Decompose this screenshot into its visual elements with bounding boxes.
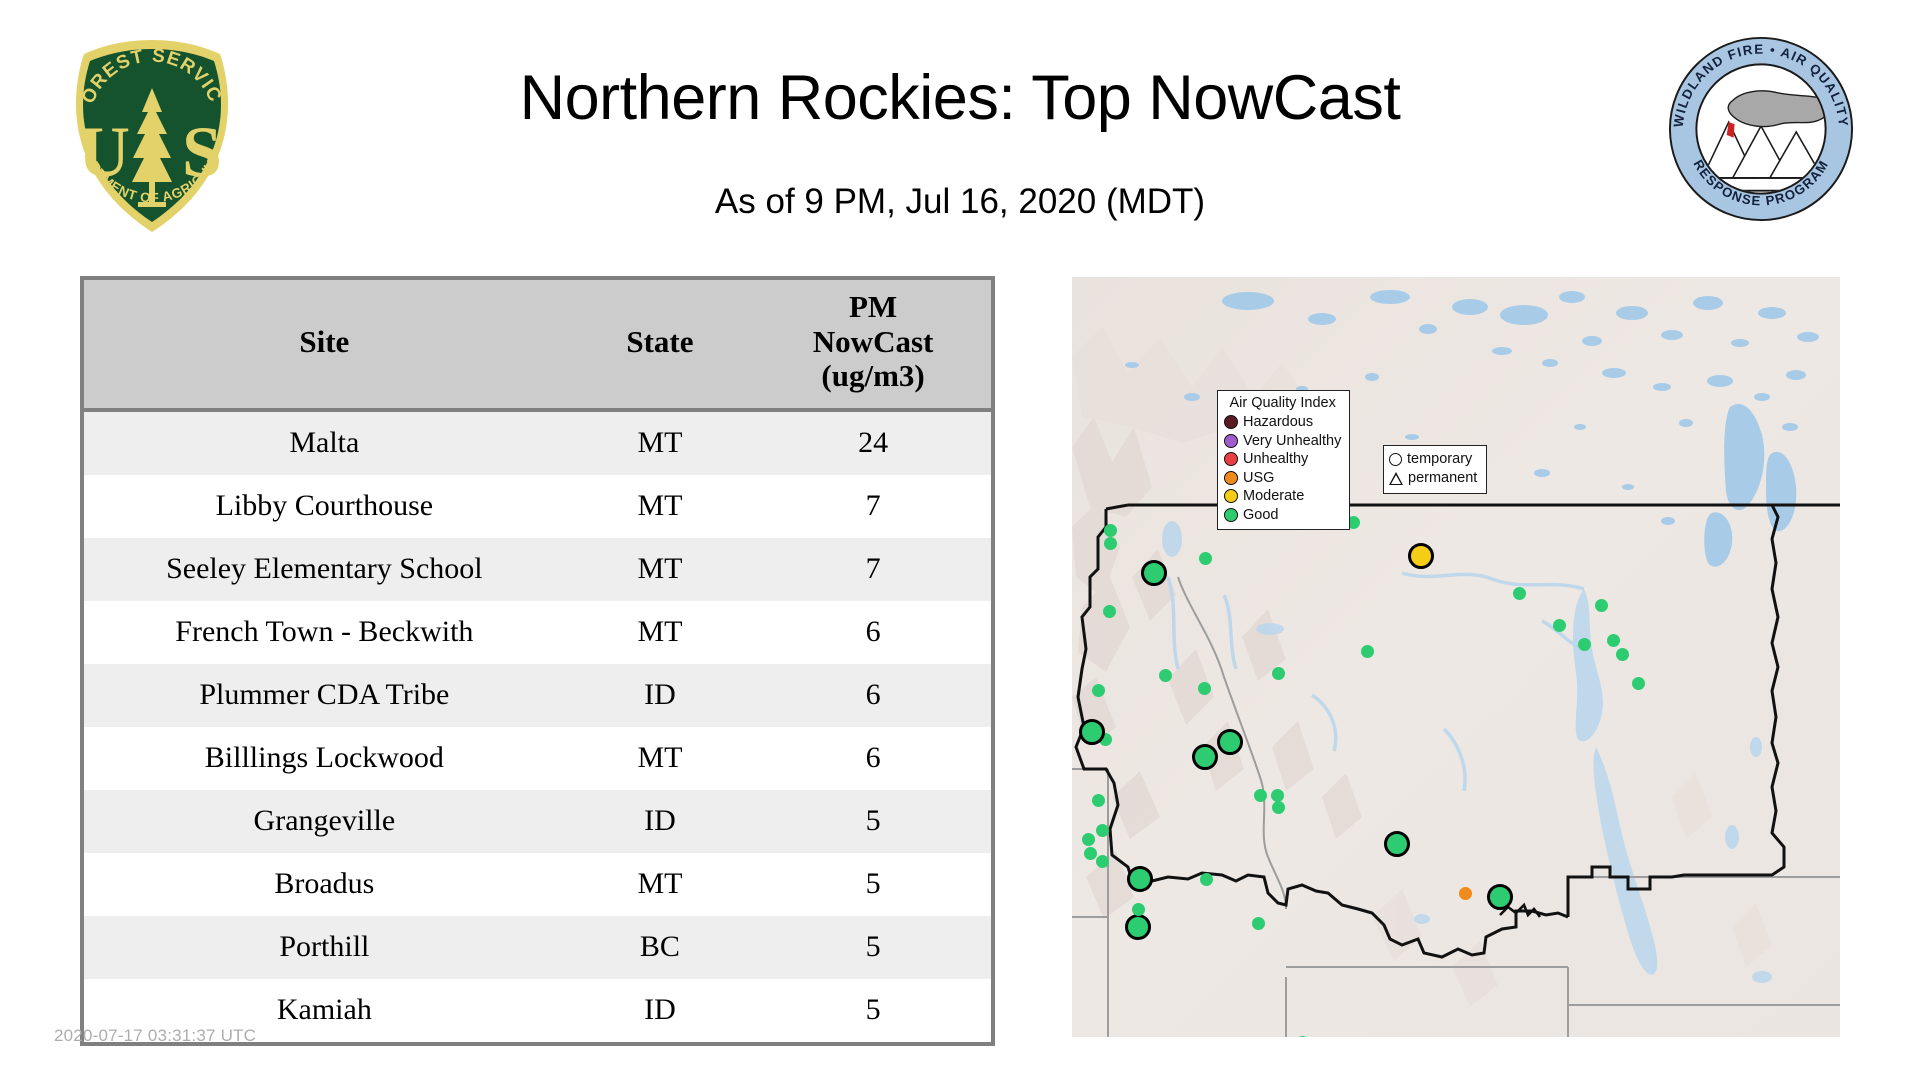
- station-marker[interactable]: [1595, 599, 1608, 612]
- legend-item-good: Good: [1224, 506, 1341, 525]
- station-marker[interactable]: [1271, 789, 1284, 802]
- cell-site: Billlings Lockwood: [84, 727, 565, 790]
- cell-state: MT: [565, 538, 755, 601]
- legend-swatch-good: [1224, 508, 1238, 522]
- cell-value: 6: [755, 664, 991, 727]
- cell-value: 5: [755, 790, 991, 853]
- station-marker[interactable]: [1616, 648, 1629, 661]
- station-marker[interactable]: [1513, 587, 1526, 600]
- legend-label-usg: USG: [1243, 471, 1274, 486]
- page-title: Northern Rockies: Top NowCast: [0, 62, 1920, 134]
- legend-label-hazardous: Hazardous: [1243, 415, 1313, 430]
- station-marker[interactable]: [1103, 605, 1116, 618]
- cell-state: MT: [565, 410, 755, 475]
- cell-site: Grangeville: [84, 790, 565, 853]
- legend-item-hazardous: Hazardous: [1224, 413, 1341, 432]
- legend-item-unhealthy: Unhealthy: [1224, 450, 1341, 469]
- nowcast-table: Site State PM NowCast (ug/m3) Malta MT: [84, 280, 991, 1042]
- cell-site: Libby Courthouse: [84, 475, 565, 538]
- station-marker[interactable]: [1092, 684, 1105, 697]
- cell-state: MT: [565, 727, 755, 790]
- station-marker[interactable]: [1192, 744, 1218, 770]
- slide-root: FOREST SERVICE U S DEPARTMENT OF AGRICUL…: [0, 0, 1920, 1080]
- cell-value: 5: [755, 853, 991, 916]
- legend-swatch-hazardous: [1224, 415, 1238, 429]
- cell-value: 5: [755, 979, 991, 1042]
- cell-site: Plummer CDA Tribe: [84, 664, 565, 727]
- column-header-pm-line1: PM: [755, 290, 991, 325]
- station-marker[interactable]: [1141, 560, 1167, 586]
- legend-label-good: Good: [1243, 508, 1278, 523]
- station-marker[interactable]: [1487, 884, 1513, 910]
- column-header-pm-nowcast[interactable]: PM NowCast (ug/m3): [755, 280, 991, 410]
- table-row[interactable]: Libby Courthouse MT 7: [84, 475, 991, 538]
- cell-value: 6: [755, 601, 991, 664]
- cell-state: MT: [565, 601, 755, 664]
- station-marker[interactable]: [1384, 831, 1410, 857]
- table-head: Site State PM NowCast (ug/m3): [84, 280, 991, 410]
- cell-state: ID: [565, 979, 755, 1042]
- station-marker[interactable]: [1607, 634, 1620, 647]
- legend-swatch-moderate: [1224, 489, 1238, 503]
- station-marker[interactable]: [1198, 682, 1211, 695]
- cell-site: Porthill: [84, 916, 565, 979]
- legend-title: Air Quality Index: [1226, 395, 1339, 411]
- legend-label-permanent: permanent: [1408, 471, 1477, 486]
- station-marker[interactable]: [1159, 669, 1172, 682]
- cell-site: Seeley Elementary School: [84, 538, 565, 601]
- station-marker[interactable]: [1272, 801, 1285, 814]
- table-row[interactable]: Billlings Lockwood MT 6: [84, 727, 991, 790]
- column-header-site[interactable]: Site: [84, 280, 565, 410]
- cell-value: 24: [755, 410, 991, 475]
- cell-value: 7: [755, 538, 991, 601]
- station-marker[interactable]: [1553, 619, 1566, 632]
- station-marker[interactable]: [1578, 638, 1591, 651]
- triangle-icon: [1389, 472, 1403, 485]
- column-header-pm-line2: NowCast: [755, 325, 991, 360]
- cell-site: French Town - Beckwith: [84, 601, 565, 664]
- table-row[interactable]: Broadus MT 5: [84, 853, 991, 916]
- legend-item-very-unhealthy: Very Unhealthy: [1224, 432, 1341, 451]
- station-marker[interactable]: [1079, 719, 1105, 745]
- cell-state: ID: [565, 790, 755, 853]
- station-marker[interactable]: [1084, 847, 1097, 860]
- column-header-site-label: Site: [84, 325, 565, 360]
- station-marker[interactable]: [1408, 543, 1434, 569]
- nowcast-table-container: Site State PM NowCast (ug/m3) Malta MT: [80, 276, 995, 1046]
- table-row[interactable]: Seeley Elementary School MT 7: [84, 538, 991, 601]
- table-header-row: Site State PM NowCast (ug/m3): [84, 280, 991, 410]
- air-quality-index-legend: Air Quality Index Hazardous Very Unhealt…: [1217, 390, 1350, 530]
- station-marker[interactable]: [1272, 667, 1285, 680]
- table-row[interactable]: Malta MT 24: [84, 410, 991, 475]
- legend-label-very-unhealthy: Very Unhealthy: [1243, 434, 1341, 449]
- legend-item-temporary: temporary: [1389, 450, 1477, 469]
- station-marker[interactable]: [1092, 794, 1105, 807]
- station-marker[interactable]: [1104, 537, 1117, 550]
- legend-item-moderate: Moderate: [1224, 487, 1341, 506]
- column-header-state[interactable]: State: [565, 280, 755, 410]
- station-marker[interactable]: [1361, 645, 1374, 658]
- page-subtitle: As of 9 PM, Jul 16, 2020 (MDT): [0, 182, 1920, 222]
- cell-site: Broadus: [84, 853, 565, 916]
- map-basemap: [1072, 277, 1840, 1037]
- legend-label-unhealthy: Unhealthy: [1243, 452, 1308, 467]
- table-row[interactable]: Grangeville ID 5: [84, 790, 991, 853]
- legend-swatch-usg: [1224, 471, 1238, 485]
- station-marker[interactable]: [1104, 524, 1117, 537]
- legend-label-moderate: Moderate: [1243, 489, 1304, 504]
- generated-timestamp: 2020-07-17 03:31:37 UTC: [54, 1026, 256, 1046]
- cell-value: 6: [755, 727, 991, 790]
- legend-swatch-very-unhealthy: [1224, 434, 1238, 448]
- cell-state: ID: [565, 664, 755, 727]
- cell-value: 5: [755, 916, 991, 979]
- table-body: Malta MT 24 Libby Courthouse MT 7 Seeley…: [84, 410, 991, 1042]
- circle-icon: [1389, 453, 1402, 466]
- station-marker[interactable]: [1096, 824, 1109, 837]
- table-row[interactable]: Plummer CDA Tribe ID 6: [84, 664, 991, 727]
- station-marker[interactable]: [1252, 917, 1265, 930]
- station-marker[interactable]: [1082, 833, 1095, 846]
- station-marker[interactable]: [1127, 866, 1153, 892]
- cell-state: MT: [565, 853, 755, 916]
- legend-item-usg: USG: [1224, 469, 1341, 488]
- station-marker[interactable]: [1632, 677, 1645, 690]
- cell-state: MT: [565, 475, 755, 538]
- station-marker[interactable]: [1125, 914, 1151, 940]
- legend-item-permanent: permanent: [1389, 469, 1477, 488]
- legend-swatch-unhealthy: [1224, 452, 1238, 466]
- table-row[interactable]: French Town - Beckwith MT 6: [84, 601, 991, 664]
- table-row[interactable]: Porthill BC 5: [84, 916, 991, 979]
- station-marker[interactable]: [1459, 887, 1472, 900]
- station-marker[interactable]: [1217, 729, 1243, 755]
- air-quality-station-map[interactable]: Air Quality Index Hazardous Very Unhealt…: [1072, 277, 1840, 1037]
- legend-label-temporary: temporary: [1407, 452, 1472, 467]
- cell-value: 7: [755, 475, 991, 538]
- station-marker[interactable]: [1199, 552, 1212, 565]
- cell-state: BC: [565, 916, 755, 979]
- station-marker[interactable]: [1096, 855, 1109, 868]
- station-type-legend: temporary permanent: [1383, 445, 1487, 494]
- cell-site: Malta: [84, 410, 565, 475]
- station-marker[interactable]: [1254, 789, 1267, 802]
- station-marker[interactable]: [1132, 903, 1145, 916]
- station-marker[interactable]: [1200, 873, 1213, 886]
- column-header-state-label: State: [565, 325, 755, 360]
- column-header-pm-line3: (ug/m3): [755, 359, 991, 394]
